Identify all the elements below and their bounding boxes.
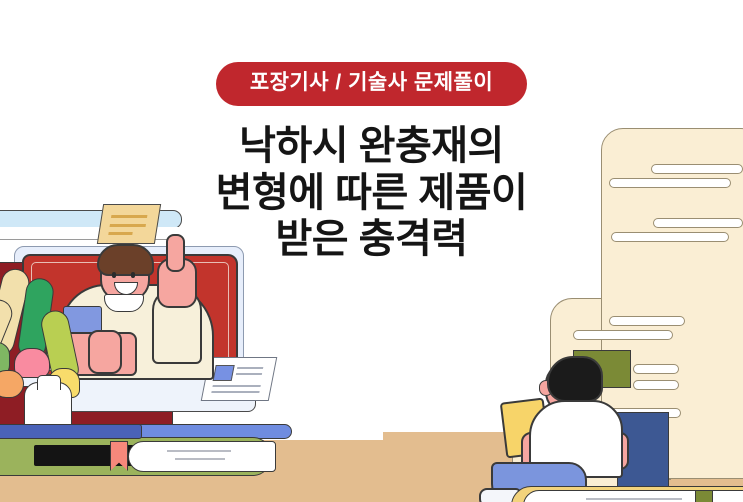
illustration-left — [0, 202, 320, 502]
doc-thumbnail-square — [213, 365, 235, 381]
doc-line — [236, 373, 262, 375]
panel-text-line — [609, 316, 685, 326]
doc-line — [212, 385, 260, 387]
illustration-right — [483, 112, 743, 502]
person-collar — [104, 294, 144, 312]
pointing-finger-icon — [166, 234, 185, 272]
person-hair — [97, 244, 154, 276]
doc-line — [211, 391, 259, 393]
page-line — [586, 498, 682, 500]
category-badge: 포장기사 / 기술사 문제풀이 — [216, 62, 527, 106]
thumbnail-card: 포장기사 / 기술사 문제풀이 낙하시 완충재의 변형에 따른 제품이 받은 충… — [0, 0, 743, 502]
book-green-pages — [128, 441, 276, 472]
bookmark-green-icon — [695, 490, 713, 502]
doc-line — [237, 367, 263, 369]
person-eye-right — [131, 272, 135, 278]
note-line — [108, 232, 132, 235]
panel-text-line — [633, 364, 679, 374]
sticky-note-icon — [97, 204, 161, 244]
panel-text-line — [633, 380, 679, 390]
panel-text-line — [573, 330, 673, 340]
person-hand-left — [88, 330, 122, 374]
panel-text-line — [609, 178, 731, 188]
note-line — [110, 224, 146, 227]
seated-person-hair — [547, 356, 603, 402]
book-blue-spine — [0, 424, 142, 439]
panel-text-line — [651, 164, 743, 174]
panel-text-line — [611, 232, 729, 242]
panel-text-line — [653, 218, 743, 228]
page-line — [167, 450, 231, 452]
page-line — [175, 458, 225, 460]
person-eye-left — [112, 272, 116, 278]
note-line — [111, 215, 147, 218]
